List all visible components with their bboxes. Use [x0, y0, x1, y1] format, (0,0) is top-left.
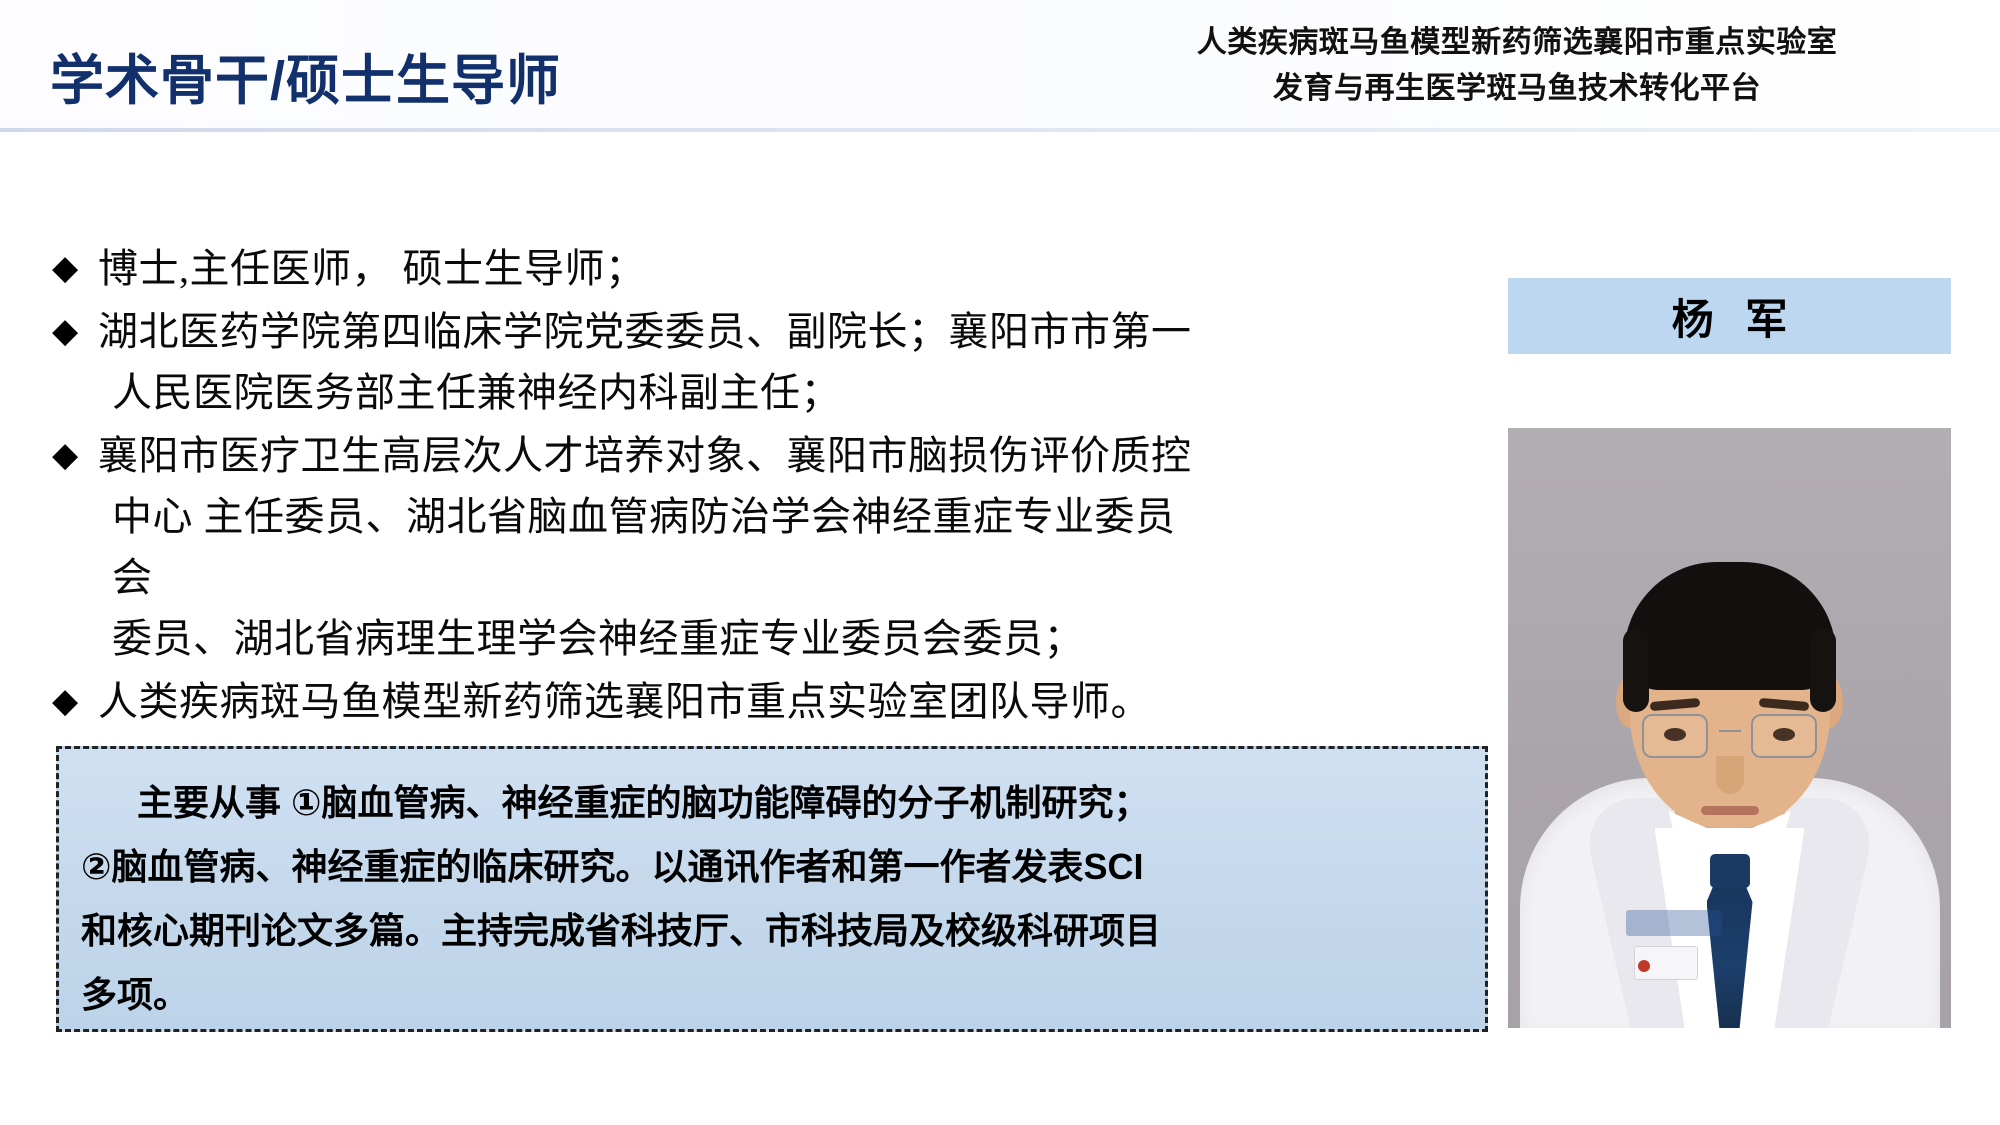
list-item-text: 人类疾病斑马鱼模型新药筛选襄阳市重点实验室团队导师。	[98, 671, 1192, 732]
hair-side-left	[1623, 628, 1649, 712]
lab-name-block: 人类疾病斑马鱼模型新药筛选襄阳市重点实验室 发育与再生医学斑马鱼技术转化平台	[1082, 20, 1952, 112]
glasses-lens-left	[1642, 714, 1708, 758]
summary-line: 多项。	[81, 963, 1459, 1027]
person-name: 杨 军	[1662, 286, 1798, 347]
badge-emblem-icon	[1638, 960, 1650, 972]
slide-root: 学术骨干/硕士生导师 人类疾病斑马鱼模型新药筛选襄阳市重点实验室 发育与再生医学…	[0, 0, 2000, 1125]
list-item: ◆ 襄阳市医疗卫生高层次人才培养对象、襄阳市脑损伤评价质控 中心 主任委员、湖北…	[52, 425, 1192, 669]
list-item-text: 襄阳市医疗卫生高层次人才培养对象、襄阳市脑损伤评价质控 中心 主任委员、湖北省脑…	[98, 425, 1192, 669]
list-item: ◆ 博士,主任医师， 硕士生导师；	[52, 238, 1192, 299]
list-item-line: 湖北医药学院第四临床学院党委委员、副院长；襄阳市市第一	[98, 309, 1192, 354]
summary-line: ②脑血管病、神经重症的临床研究。以通讯作者和第一作者发表SCI	[81, 835, 1459, 899]
slide-header: 学术骨干/硕士生导师 人类疾病斑马鱼模型新药筛选襄阳市重点实验室 发育与再生医学…	[0, 0, 2000, 132]
glasses-lens-right	[1751, 714, 1817, 758]
list-item-line: 博士,主任医师， 硕士生导师；	[98, 246, 646, 291]
summary-line: 主要从事 ①脑血管病、神经重症的脑功能障碍的分子机制研究；	[81, 771, 1459, 835]
credentials-list: ◆ 博士,主任医师， 硕士生导师； ◆ 湖北医药学院第四临床学院党委委员、副院长…	[52, 238, 1192, 734]
list-item: ◆ 人类疾病斑马鱼模型新药筛选襄阳市重点实验室团队导师。	[52, 671, 1192, 732]
portrait-photo	[1508, 428, 1951, 1028]
list-item-line: 人类疾病斑马鱼模型新药筛选襄阳市重点实验室团队导师。	[98, 679, 1151, 724]
list-item-line: 人民医院医务部主任兼神经内科副主任；	[98, 362, 1192, 423]
list-item-text: 博士,主任医师， 硕士生导师；	[98, 238, 1192, 299]
lab-name-line-2: 发育与再生医学斑马鱼技术转化平台	[1082, 66, 1952, 112]
diamond-bullet-icon: ◆	[52, 425, 98, 485]
hospital-logo	[1626, 910, 1722, 936]
list-item-line: 中心 主任委员、湖北省脑血管病防治学会神经重症专业委员会	[98, 486, 1192, 608]
necktie-knot	[1710, 854, 1750, 888]
lab-name-line-1: 人类疾病斑马鱼模型新药筛选襄阳市重点实验室	[1082, 20, 1952, 66]
diamond-bullet-icon: ◆	[52, 238, 98, 298]
header-divider	[0, 128, 2000, 132]
list-item-line: 委员、湖北省病理生理学会神经重症专业委员会委员；	[98, 608, 1192, 669]
list-item-line: 襄阳市医疗卫生高层次人才培养对象、襄阳市脑损伤评价质控	[98, 433, 1192, 478]
hair-side-right	[1810, 628, 1836, 712]
list-item: ◆ 湖北医药学院第四临床学院党委委员、副院长；襄阳市市第一 人民医院医务部主任兼…	[52, 301, 1192, 423]
glasses-bridge	[1719, 730, 1741, 732]
summary-line: 和核心期刊论文多篇。主持完成省科技厅、市科技局及校级科研项目	[81, 899, 1459, 963]
person-name-banner: 杨 军	[1508, 278, 1951, 354]
diamond-bullet-icon: ◆	[52, 301, 98, 361]
nose	[1716, 756, 1744, 794]
page-title: 学术骨干/硕士生导师	[50, 36, 561, 115]
list-item-text: 湖北医药学院第四临床学院党委委员、副院长；襄阳市市第一 人民医院医务部主任兼神经…	[98, 301, 1192, 423]
mouth	[1701, 806, 1759, 815]
research-summary-box: 主要从事 ①脑血管病、神经重症的脑功能障碍的分子机制研究； ②脑血管病、神经重症…	[56, 746, 1488, 1032]
diamond-bullet-icon: ◆	[52, 671, 98, 731]
